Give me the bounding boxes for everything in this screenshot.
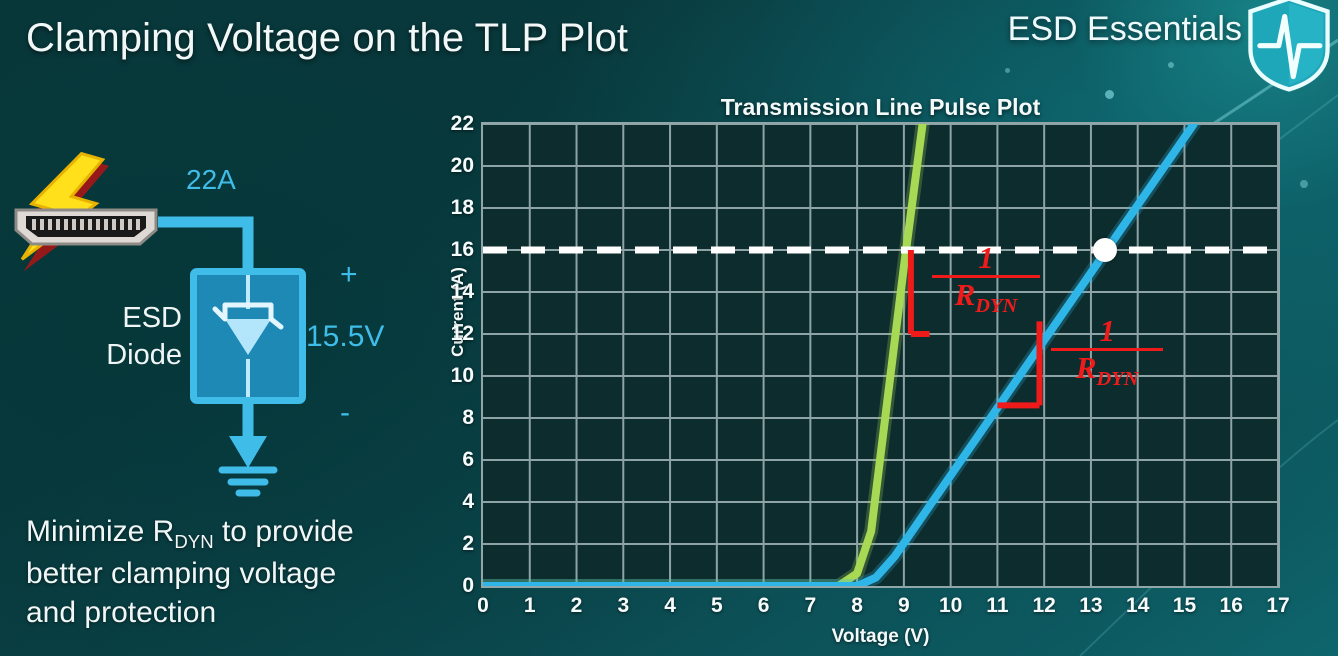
denominator-base: R [955, 277, 976, 312]
chart-x-tick-label: 9 [884, 594, 924, 618]
chart-y-tick-label: 8 [428, 406, 474, 430]
chart-y-tick-label: 20 [428, 154, 474, 178]
chart-x-tick-label: 15 [1164, 594, 1204, 618]
chart-x-tick-label: 11 [977, 594, 1017, 618]
chart-x-tick-label: 2 [557, 594, 597, 618]
slope-annotation-high-rdyn: 1 RDYN [1051, 315, 1163, 391]
polarity-plus-label: + [340, 258, 358, 292]
chart-x-tick-label: 3 [603, 594, 643, 618]
chart-x-tick-label: 5 [697, 594, 737, 618]
esd-diode-label: ESD Diode [92, 300, 182, 374]
chart-title: Transmission Line Pulse Plot [481, 94, 1280, 121]
chart-y-tick-label: 12 [428, 322, 474, 346]
chart-y-tick-label: 16 [428, 238, 474, 262]
denominator-base: R [1076, 350, 1097, 385]
bokeh-dot [1168, 62, 1174, 68]
polarity-minus-label: - [340, 396, 350, 430]
chart-x-tick-label: 10 [931, 594, 971, 618]
denominator-sub: DYN [975, 295, 1017, 317]
clamping-voltage-label: 15.5V [306, 320, 384, 354]
slope-annotation-high-rdyn-numerator: 1 [1051, 315, 1163, 346]
bokeh-dot [1005, 68, 1010, 73]
tvs-diode-icon [197, 275, 299, 397]
chart-x-tick-label: 8 [837, 594, 877, 618]
caption-line1-sub: DYN [174, 531, 213, 552]
chart-x-tick-label: 7 [790, 594, 830, 618]
chart-y-tick-label: 4 [428, 490, 474, 514]
chart-x-tick-label: 17 [1258, 594, 1298, 618]
caption-line-3: and protection [26, 593, 446, 632]
chart-x-tick-label: 6 [744, 594, 784, 618]
chart-x-tick-label: 0 [463, 594, 503, 618]
chart-x-tick-label: 16 [1211, 594, 1251, 618]
esd-circuit-diagram: 22A 15.5V + - ESD Diode [0, 148, 430, 508]
chart-x-axis-ticks: 01234567891011121314151617 [481, 594, 1280, 624]
denominator-sub: DYN [1097, 368, 1139, 390]
caption-line1-post: to provide [214, 515, 354, 548]
chart-x-tick-label: 12 [1024, 594, 1064, 618]
summary-caption: Minimize RDYN to provide better clamping… [26, 512, 446, 632]
slope-annotation-low-rdyn-numerator: 1 [932, 242, 1040, 273]
tvs-diode-symbol [190, 268, 306, 404]
fraction-bar [1051, 348, 1163, 351]
chart-y-tick-label: 6 [428, 448, 474, 472]
chart-x-axis-label: Voltage (V) [481, 626, 1280, 648]
chart-y-tick-label: 22 [428, 112, 474, 136]
esd-diode-label-line1: ESD [92, 300, 182, 337]
slide-canvas: Clamping Voltage on the TLP Plot ESD Ess… [0, 0, 1338, 656]
chart-y-tick-label: 2 [428, 532, 474, 556]
chart-y-tick-label: 14 [428, 280, 474, 304]
chart-y-tick-label: 18 [428, 196, 474, 220]
slope-annotation-low-rdyn-denominator: RDYN [932, 279, 1040, 318]
tlp-chart: Transmission Line Pulse Plot Current (A)… [412, 92, 1338, 656]
chart-x-tick-label: 4 [650, 594, 690, 618]
caption-line-2: better clamping voltage [26, 554, 446, 593]
shield-heartbeat-icon [1246, 0, 1332, 92]
chart-x-tick-label: 13 [1071, 594, 1111, 618]
chart-y-axis-ticks: 0246810121416182022 [412, 122, 474, 588]
caption-line1-pre: Minimize R [26, 515, 174, 548]
chart-plot-area: 1 RDYN 1 RDYN [481, 122, 1280, 588]
chart-y-tick-label: 10 [428, 364, 474, 388]
slope-annotation-high-rdyn-denominator: RDYN [1051, 352, 1163, 391]
brand-label: ESD Essentials [1008, 10, 1242, 49]
operating-point-marker [1093, 238, 1117, 262]
current-label: 22A [186, 164, 236, 196]
fraction-bar [932, 275, 1040, 278]
caption-line-1: Minimize RDYN to provide [26, 512, 446, 554]
slope-annotation-low-rdyn: 1 RDYN [932, 242, 1040, 318]
chart-x-tick-label: 1 [510, 594, 550, 618]
esd-diode-label-line2: Diode [92, 337, 182, 374]
page-title: Clamping Voltage on the TLP Plot [26, 16, 628, 61]
chart-x-tick-label: 14 [1118, 594, 1158, 618]
